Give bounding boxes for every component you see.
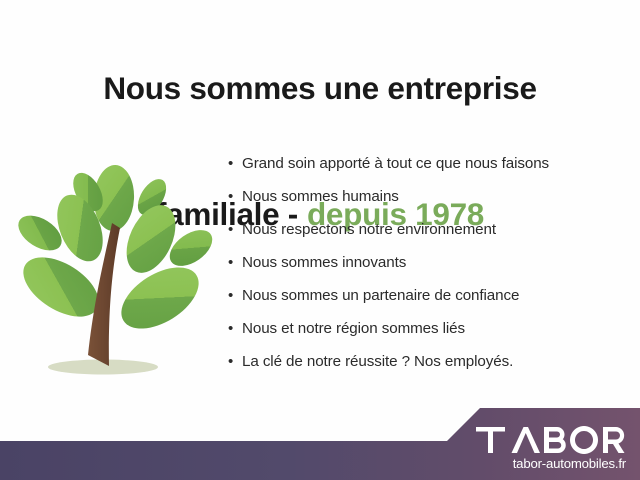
brand-tagline[interactable]: tabor-automobiles.fr — [460, 457, 630, 472]
list-item-label: Nous et notre région sommes liés — [242, 312, 465, 345]
bullet-icon: • — [228, 213, 242, 246]
tabor-wordmark-icon — [475, 425, 630, 455]
list-item-label: Nous sommes un partenaire de confiance — [242, 279, 519, 312]
slide-root: Nous sommes une entreprise familiale -de… — [0, 0, 640, 480]
bullet-icon: • — [228, 180, 242, 213]
list-item: • Nous sommes innovants — [228, 246, 628, 279]
list-item: • Nous sommes un partenaire de confiance — [228, 279, 628, 312]
list-item-label: Nous sommes humains — [242, 180, 399, 213]
list-item: • La clé de notre réussite ? Nos employé… — [228, 345, 628, 378]
list-item-label: Nous sommes innovants — [242, 246, 406, 279]
bullet-icon: • — [228, 345, 242, 378]
bullet-icon: • — [228, 279, 242, 312]
list-item-label: La clé de notre réussite ? Nos employés. — [242, 345, 513, 378]
bullet-icon: • — [228, 147, 242, 180]
tree-illustration — [8, 150, 223, 390]
brand-logo[interactable]: tabor-automobiles.fr — [460, 425, 630, 472]
list-item: • Nous respectons notre environnement — [228, 213, 628, 246]
list-item: • Grand soin apporté à tout ce que nous … — [228, 147, 628, 180]
list-item: • Nous et notre région sommes liés — [228, 312, 628, 345]
list-item-label: Nous respectons notre environnement — [242, 213, 496, 246]
bullet-icon: • — [228, 312, 242, 345]
bullet-icon: • — [228, 246, 242, 279]
footer-banner: tabor-automobiles.fr — [0, 400, 640, 480]
tree-illustration-svg — [8, 150, 223, 390]
list-item-label: Grand soin apporté à tout ce que nous fa… — [242, 147, 549, 180]
benefits-list: • Grand soin apporté à tout ce que nous … — [228, 147, 628, 378]
headline-line-1: Nous sommes une entreprise — [0, 68, 640, 110]
list-item: • Nous sommes humains — [228, 180, 628, 213]
